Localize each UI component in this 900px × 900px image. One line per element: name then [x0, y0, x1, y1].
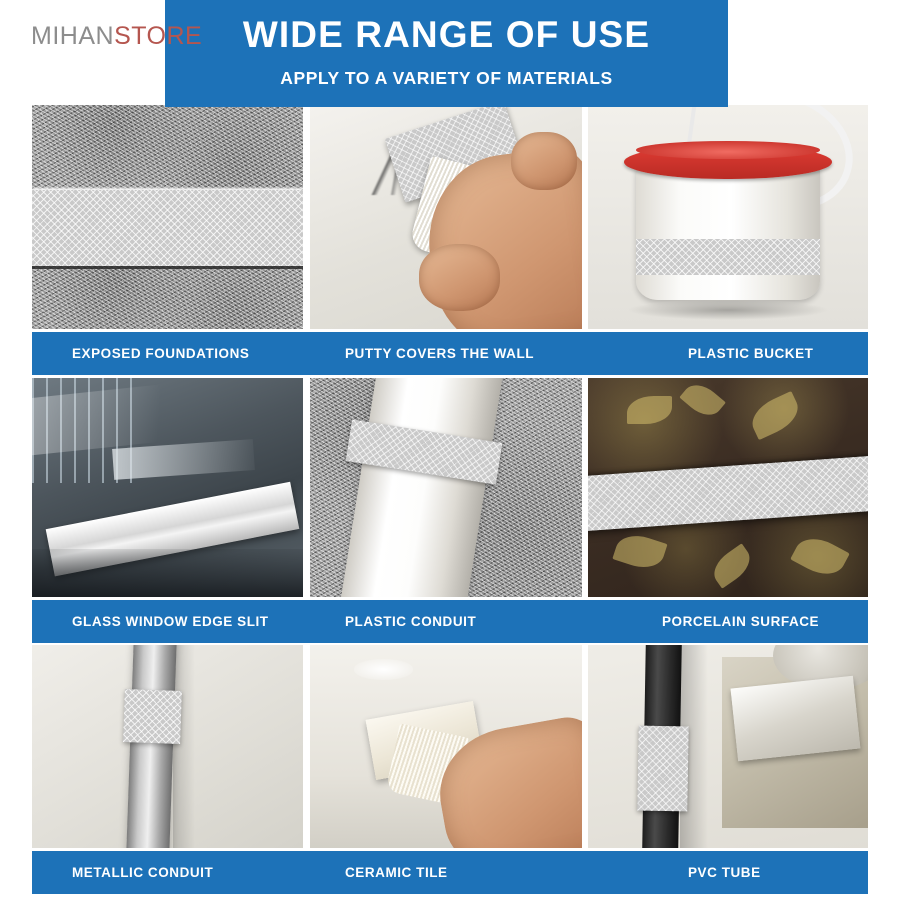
caption-plastic-bucket: PLASTIC BUCKET — [588, 332, 868, 375]
caption-ceramic-tile: CERAMIC TILE — [310, 851, 582, 894]
watermark-brand-primary: MIHAN — [31, 22, 114, 50]
ceiling-light-reflection — [354, 659, 414, 679]
grid-row-1: EXPOSED FOUNDATIONS PUTTY COVERS THE WAL… — [32, 105, 868, 372]
shadow-line — [32, 266, 303, 269]
watermark-brand-secondary: STORE — [114, 22, 202, 50]
thumb — [419, 244, 501, 311]
bucket-shadow — [627, 300, 829, 320]
grid-cell-glass-window-edge-slit[interactable] — [32, 378, 303, 597]
pipe-shadow — [173, 645, 195, 848]
finger — [511, 132, 576, 190]
concrete-surface-lower — [32, 266, 303, 329]
bucket-lid-top — [636, 141, 821, 159]
grid-row-2: GLASS WINDOW EDGE SLIT PLASTIC CONDUIT P… — [32, 378, 868, 643]
grid-cell-ceramic-tile[interactable] — [310, 645, 582, 848]
photo-exposed-foundations — [32, 105, 303, 329]
grid-cell-plastic-bucket[interactable] — [588, 105, 868, 329]
caption-glass-window-edge-slit: GLASS WINDOW EDGE SLIT — [32, 600, 303, 643]
grid-cell-pvc-tube[interactable] — [588, 645, 868, 848]
photo-glass-window-edge-slit — [32, 378, 303, 597]
concrete-surface-upper — [32, 105, 303, 190]
caption-bar-row-1: EXPOSED FOUNDATIONS PUTTY COVERS THE WAL… — [32, 332, 868, 375]
photo-porcelain-surface — [588, 378, 868, 597]
photo-metallic-conduit — [32, 645, 303, 848]
photo-plastic-bucket — [588, 105, 868, 329]
caption-plastic-conduit: PLASTIC CONDUIT — [310, 600, 582, 643]
bottom-shadow — [32, 549, 303, 597]
photo-pvc-tube — [588, 645, 868, 848]
mesh-tape-wrap — [123, 689, 182, 744]
grid-cell-putty-covers-the-wall[interactable] — [310, 105, 582, 329]
page-title: WIDE RANGE OF USE — [243, 16, 650, 55]
mesh-tape-wrap — [636, 239, 821, 275]
grid-cell-plastic-conduit[interactable] — [310, 378, 582, 597]
mesh-tape-band — [32, 190, 303, 266]
foil-tape-patch — [730, 675, 860, 761]
metallic-conduit-pipe — [126, 645, 177, 848]
caption-bar-row-2: GLASS WINDOW EDGE SLIT PLASTIC CONDUIT P… — [32, 600, 868, 643]
bucket-body — [636, 165, 821, 299]
photo-ceramic-tile — [310, 645, 582, 848]
use-case-grid: EXPOSED FOUNDATIONS PUTTY COVERS THE WAL… — [32, 105, 868, 893]
watermark-logo: MIHANSTORE — [31, 24, 202, 49]
page-subtitle: APPLY TO A VARIETY OF MATERIALS — [280, 68, 612, 89]
grid-row-3: METALLIC CONDUIT CERAMIC TILE PVC TUBE — [32, 645, 868, 893]
grid-cell-porcelain-surface[interactable] — [588, 378, 868, 597]
caption-putty-covers-the-wall: PUTTY COVERS THE WALL — [310, 332, 582, 375]
caption-metallic-conduit: METALLIC CONDUIT — [32, 851, 303, 894]
mesh-tape-wrap — [638, 726, 690, 812]
caption-porcelain-surface: PORCELAIN SURFACE — [588, 600, 868, 643]
header-banner: WIDE RANGE OF USE APPLY TO A VARIETY OF … — [165, 0, 728, 107]
caption-exposed-foundations: EXPOSED FOUNDATIONS — [32, 332, 303, 375]
grid-cell-exposed-foundations[interactable] — [32, 105, 303, 329]
photo-putty-covers-the-wall — [310, 105, 582, 329]
caption-bar-row-3: METALLIC CONDUIT CERAMIC TILE PVC TUBE — [32, 851, 868, 894]
photo-plastic-conduit — [310, 378, 582, 597]
grid-cell-metallic-conduit[interactable] — [32, 645, 303, 848]
caption-pvc-tube: PVC TUBE — [588, 851, 868, 894]
infographic-page: MIHANSTORE WIDE RANGE OF USE APPLY TO A … — [0, 0, 900, 900]
